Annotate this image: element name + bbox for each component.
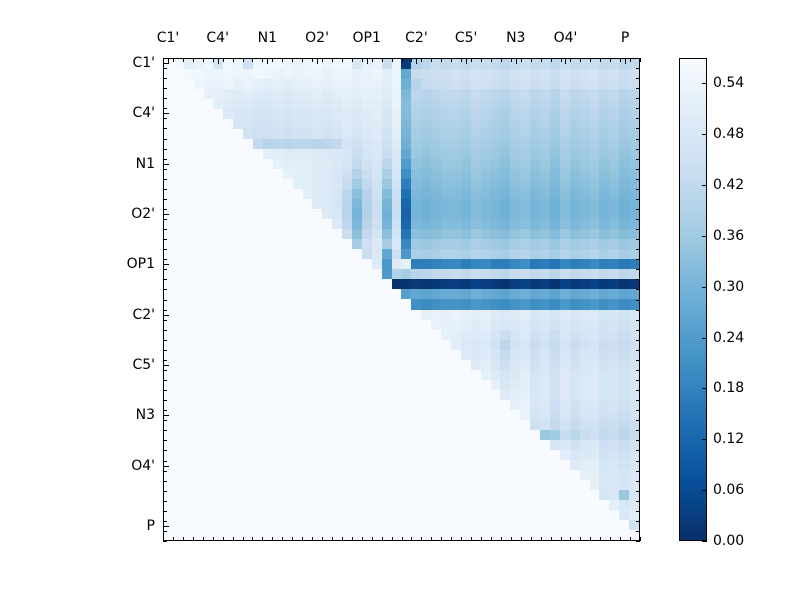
heatmap-cell: [510, 219, 520, 229]
y-tick-mark: [636, 360, 640, 361]
heatmap-cell: [342, 59, 352, 69]
heatmap-cell: [580, 119, 590, 129]
heatmap-cell: [540, 420, 550, 430]
heatmap-cell: [471, 410, 481, 420]
heatmap-cell: [570, 360, 580, 370]
heatmap-cell: [273, 490, 283, 500]
heatmap-cell: [283, 59, 293, 69]
y-tick-mark: [636, 390, 640, 391]
heatmap-cell: [332, 109, 342, 119]
heatmap-cell: [223, 440, 233, 450]
heatmap-cell: [243, 440, 253, 450]
heatmap-cell: [293, 350, 303, 360]
heatmap-cell: [332, 430, 342, 440]
heatmap-cell: [372, 410, 382, 420]
y-tick-mark: [636, 370, 640, 371]
heatmap-cell: [619, 159, 629, 169]
heatmap-cell: [263, 289, 273, 299]
heatmap-cell: [362, 390, 372, 400]
heatmap-cell: [520, 219, 530, 229]
heatmap-cell: [223, 450, 233, 460]
heatmap-cell: [233, 109, 243, 119]
heatmap-cell: [243, 400, 253, 410]
heatmap-cell: [590, 450, 600, 460]
heatmap-cell: [401, 229, 411, 239]
heatmap-cell: [471, 89, 481, 99]
heatmap-cell: [332, 209, 342, 219]
heatmap-cell: [322, 470, 332, 480]
heatmap-cell: [233, 269, 243, 279]
heatmap-cell: [372, 199, 382, 209]
heatmap-cell: [441, 410, 451, 420]
heatmap-cell: [481, 79, 491, 89]
heatmap-cell: [322, 299, 332, 309]
heatmap-cell: [233, 320, 243, 330]
heatmap-cell: [540, 219, 550, 229]
heatmap-cell: [184, 400, 194, 410]
heatmap-cell: [382, 299, 392, 309]
heatmap-cell: [540, 340, 550, 350]
heatmap-cell: [204, 149, 214, 159]
heatmap-cell: [491, 229, 501, 239]
heatmap-cell: [609, 149, 619, 159]
heatmap-cell: [332, 370, 342, 380]
heatmap-cell: [580, 430, 590, 440]
y-tick-mark: [636, 219, 640, 220]
heatmap-cell: [411, 360, 421, 370]
heatmap-cell: [451, 390, 461, 400]
heatmap-cell: [283, 259, 293, 269]
heatmap-cell: [253, 320, 263, 330]
heatmap-cell: [421, 169, 431, 179]
heatmap-cell: [273, 119, 283, 129]
x-major-tick-mark: [218, 58, 219, 64]
heatmap-cell: [382, 350, 392, 360]
heatmap-cell: [461, 149, 471, 159]
heatmap-cell: [451, 400, 461, 410]
heatmap-cell: [619, 310, 629, 320]
heatmap-cell: [441, 320, 451, 330]
heatmap-cell: [530, 330, 540, 340]
heatmap-cell: [362, 79, 372, 89]
heatmap-cell: [441, 490, 451, 500]
heatmap-cell: [194, 109, 204, 119]
heatmap-cell: [332, 380, 342, 390]
heatmap-cell: [392, 259, 402, 269]
heatmap-cell: [590, 340, 600, 350]
heatmap-cell: [570, 380, 580, 390]
heatmap-cell: [273, 310, 283, 320]
heatmap-cell: [530, 430, 540, 440]
heatmap-cell: [491, 279, 501, 289]
heatmap-cell: [362, 340, 372, 350]
heatmap-cell: [392, 350, 402, 360]
heatmap-cell: [184, 310, 194, 320]
heatmap-cell: [471, 179, 481, 189]
heatmap-cell: [362, 510, 372, 520]
heatmap-cell: [312, 480, 322, 490]
heatmap-cell: [174, 470, 184, 480]
heatmap-cell: [312, 119, 322, 129]
heatmap-cell: [283, 390, 293, 400]
heatmap-cell: [451, 360, 461, 370]
x-tick-mark: [640, 537, 641, 541]
heatmap-cell: [401, 219, 411, 229]
heatmap-cell: [401, 480, 411, 490]
heatmap-cell: [372, 310, 382, 320]
heatmap-cell: [184, 259, 194, 269]
heatmap-cell: [491, 249, 501, 259]
heatmap-cell: [392, 139, 402, 149]
heatmap-cell: [580, 149, 590, 159]
heatmap-cell: [184, 289, 194, 299]
heatmap-cell: [352, 269, 362, 279]
heatmap-cell: [174, 440, 184, 450]
heatmap-cell: [263, 500, 273, 510]
heatmap-cell: [253, 179, 263, 189]
heatmap-cell: [253, 89, 263, 99]
heatmap-cell: [273, 440, 283, 450]
heatmap-cell: [540, 510, 550, 520]
heatmap-cell: [500, 360, 510, 370]
heatmap-cell: [392, 370, 402, 380]
heatmap-cell: [243, 249, 253, 259]
heatmap-cell: [461, 229, 471, 239]
x-tick-mark: [511, 537, 512, 541]
heatmap-cell: [530, 189, 540, 199]
heatmap-cell: [520, 119, 530, 129]
heatmap-cell: [312, 440, 322, 450]
heatmap-cell: [599, 249, 609, 259]
heatmap-cell: [401, 370, 411, 380]
heatmap-cell: [510, 249, 520, 259]
heatmap-cell: [461, 460, 471, 470]
heatmap-cell: [540, 410, 550, 420]
heatmap-cell: [342, 179, 352, 189]
heatmap-cell: [243, 450, 253, 460]
heatmap-cell: [204, 520, 214, 530]
heatmap-cell: [421, 530, 431, 540]
heatmap-cell: [273, 510, 283, 520]
heatmap-cell: [431, 520, 441, 530]
x-tick-mark: [173, 58, 174, 62]
heatmap-cell: [520, 500, 530, 510]
heatmap-cell: [441, 179, 451, 189]
colorbar-tick-label: 0.30: [713, 279, 744, 295]
heatmap-cell: [372, 500, 382, 510]
heatmap-cell: [213, 470, 223, 480]
heatmap-cell: [303, 159, 313, 169]
heatmap-cell: [184, 320, 194, 330]
heatmap-cell: [213, 440, 223, 450]
heatmap-cell: [342, 139, 352, 149]
heatmap-cell: [421, 480, 431, 490]
heatmap-cell: [550, 219, 560, 229]
heatmap-cell: [253, 219, 263, 229]
heatmap-cell: [550, 520, 560, 530]
heatmap-cell: [204, 129, 214, 139]
heatmap-cell: [164, 380, 174, 390]
heatmap-cell: [293, 510, 303, 520]
heatmap-cell: [312, 340, 322, 350]
heatmap-cell: [263, 470, 273, 480]
heatmap-cell: [352, 139, 362, 149]
heatmap-cell: [164, 199, 174, 209]
heatmap-cell: [431, 380, 441, 390]
heatmap-cell: [253, 149, 263, 159]
heatmap-cell: [500, 209, 510, 219]
heatmap-cell: [629, 199, 639, 209]
heatmap-cell: [550, 299, 560, 309]
heatmap-cell: [599, 239, 609, 249]
heatmap-cell: [411, 109, 421, 119]
heatmap-cell: [293, 480, 303, 490]
heatmap-cell: [510, 129, 520, 139]
heatmap-cell: [293, 500, 303, 510]
heatmap-cell: [431, 510, 441, 520]
heatmap-cell: [580, 259, 590, 269]
heatmap-cell: [481, 400, 491, 410]
y-tick-mark: [163, 420, 167, 421]
heatmap-cell: [411, 269, 421, 279]
heatmap-cell: [550, 189, 560, 199]
heatmap-cell: [283, 149, 293, 159]
heatmap-cell: [372, 249, 382, 259]
heatmap-cell: [570, 350, 580, 360]
heatmap-cell: [570, 249, 580, 259]
heatmap-cell: [401, 330, 411, 340]
heatmap-cell: [322, 69, 332, 79]
heatmap-cell: [560, 350, 570, 360]
heatmap-cell: [293, 430, 303, 440]
heatmap-cell: [481, 390, 491, 400]
heatmap-cell: [174, 500, 184, 510]
heatmap-cell: [253, 129, 263, 139]
heatmap-cell: [421, 460, 431, 470]
heatmap-cell: [411, 380, 421, 390]
heatmap-cell: [510, 199, 520, 209]
heatmap-cell: [550, 89, 560, 99]
heatmap-cell: [174, 320, 184, 330]
x-tick-mark: [461, 58, 462, 62]
heatmap-cell: [599, 470, 609, 480]
heatmap-cell: [382, 89, 392, 99]
heatmap-cell: [253, 159, 263, 169]
heatmap-cell: [481, 530, 491, 540]
heatmap-cell: [273, 460, 283, 470]
heatmap-cell: [520, 79, 530, 89]
x-tick-mark: [471, 58, 472, 62]
heatmap-cell: [431, 340, 441, 350]
heatmap-cell: [580, 500, 590, 510]
heatmap-cell: [599, 320, 609, 330]
heatmap-cell: [362, 89, 372, 99]
heatmap-cell: [213, 400, 223, 410]
heatmap-cell: [540, 440, 550, 450]
colorbar-tick-label: 0.36: [713, 228, 744, 244]
heatmap-cell: [560, 450, 570, 460]
heatmap-cell: [491, 59, 501, 69]
heatmap-cell: [421, 89, 431, 99]
heatmap-cell: [273, 470, 283, 480]
heatmap-cell: [491, 289, 501, 299]
heatmap-cell: [194, 169, 204, 179]
heatmap-cell: [342, 289, 352, 299]
heatmap-cell: [233, 430, 243, 440]
heatmap-cell: [619, 430, 629, 440]
heatmap-cell: [461, 410, 471, 420]
heatmap-cell: [382, 390, 392, 400]
heatmap-cell: [372, 259, 382, 269]
heatmap-cell: [223, 129, 233, 139]
heatmap-cell: [421, 350, 431, 360]
heatmap-cell: [491, 99, 501, 109]
heatmap-cell: [263, 159, 273, 169]
heatmap-cell: [204, 109, 214, 119]
heatmap-cell: [609, 320, 619, 330]
heatmap-cell: [590, 179, 600, 189]
heatmap-cell: [273, 69, 283, 79]
heatmap-cell: [491, 360, 501, 370]
heatmap-cell: [421, 189, 431, 199]
heatmap-cell: [253, 199, 263, 209]
colorbar[interactable]: [679, 58, 707, 541]
heatmap-cell: [570, 209, 580, 219]
heatmap-cell: [590, 410, 600, 420]
heatmap-cell: [441, 189, 451, 199]
heatmap-cell: [283, 129, 293, 139]
heatmap-cell: [491, 159, 501, 169]
heatmap-cell: [510, 159, 520, 169]
heatmap-cell: [342, 89, 352, 99]
heatmap-cell: [530, 269, 540, 279]
heatmap-cell: [382, 340, 392, 350]
heatmap-cell: [431, 239, 441, 249]
heatmap-cell: [401, 209, 411, 219]
heatmap-cell: [471, 390, 481, 400]
heatmap-cell: [352, 119, 362, 129]
heatmap-cell: [481, 99, 491, 109]
x-tick-mark: [342, 537, 343, 541]
heatmap-cell: [411, 199, 421, 209]
heatmap-cell: [540, 400, 550, 410]
heatmap-cell: [580, 99, 590, 109]
y-tick-mark: [636, 149, 640, 150]
heatmap-cell: [491, 129, 501, 139]
heatmap-cell: [392, 320, 402, 330]
heatmap-cell: [352, 440, 362, 450]
heatmap-cell: [253, 470, 263, 480]
heatmap-cell: [530, 370, 540, 380]
heatmap-cell: [510, 209, 520, 219]
heatmap-cell: [342, 350, 352, 360]
heatmap-cell: [540, 360, 550, 370]
heatmap-cell: [342, 500, 352, 510]
heatmap-cell: [540, 119, 550, 129]
heatmap-cell: [570, 239, 580, 249]
heatmap-cell: [471, 380, 481, 390]
heatmap-cell: [510, 99, 520, 109]
heatmap-cell: [540, 229, 550, 239]
heatmap-cell: [510, 169, 520, 179]
heatmap-cell: [570, 279, 580, 289]
heatmap-cell: [500, 109, 510, 119]
heatmap-cell: [362, 229, 372, 239]
heatmap-cell: [629, 380, 639, 390]
heatmap-cell: [500, 159, 510, 169]
heatmap-cell: [184, 450, 194, 460]
heatmap-cell: [233, 420, 243, 430]
heatmap-cell: [352, 350, 362, 360]
heatmap-cell: [530, 69, 540, 79]
heatmap-cell: [411, 320, 421, 330]
heatmap-cell: [431, 259, 441, 269]
heatmap-cell: [204, 370, 214, 380]
heatmap-cell: [253, 440, 263, 450]
heatmap-cell: [471, 470, 481, 480]
heatmap-cell: [401, 239, 411, 249]
heatmap-cell: [550, 109, 560, 119]
heatmap-cell: [550, 420, 560, 430]
x-tick-label: O4': [554, 30, 578, 46]
heatmap-cell: [263, 219, 273, 229]
heatmap-cell: [352, 159, 362, 169]
heatmap-cell: [382, 169, 392, 179]
heatmap-cell: [352, 289, 362, 299]
heatmap-cell: [580, 400, 590, 410]
heatmap-cell: [303, 299, 313, 309]
heatmap-cell: [599, 480, 609, 490]
heatmap-cell: [619, 119, 629, 129]
heatmap-cell: [411, 89, 421, 99]
heatmap-cell: [213, 370, 223, 380]
heatmap-cell: [421, 450, 431, 460]
heatmap-cell: [213, 490, 223, 500]
heatmap-cell: [530, 360, 540, 370]
heatmap-cell: [421, 340, 431, 350]
heatmap-cell: [322, 330, 332, 340]
heatmap-cell: [441, 360, 451, 370]
y-tick-mark: [163, 259, 167, 260]
heatmap-cell: [213, 320, 223, 330]
heatmap-cell: [550, 500, 560, 510]
heatmap-cell: [500, 490, 510, 500]
heatmap-cell: [194, 430, 204, 440]
heatmap-cell: [293, 380, 303, 390]
heatmap-cell: [560, 89, 570, 99]
heatmap-cell: [441, 59, 451, 69]
heatmap-cell: [273, 279, 283, 289]
heatmap-cell: [352, 430, 362, 440]
heatmap-cell: [174, 89, 184, 99]
heatmap-cell: [293, 490, 303, 500]
heatmap-cell: [303, 430, 313, 440]
heatmap-cell: [491, 350, 501, 360]
heatmap-cell: [530, 209, 540, 219]
heatmap-cell: [253, 289, 263, 299]
heatmap-cell: [223, 420, 233, 430]
x-tick-mark: [203, 537, 204, 541]
heatmap-cell: [451, 380, 461, 390]
heatmap-cell: [609, 169, 619, 179]
x-tick-mark: [372, 58, 373, 62]
x-tick-mark: [352, 537, 353, 541]
heatmap-cell: [451, 279, 461, 289]
heatmap-cell: [362, 219, 372, 229]
heatmap-cell: [283, 510, 293, 520]
heatmap-axes[interactable]: [163, 58, 640, 541]
x-tick-mark: [272, 537, 273, 541]
